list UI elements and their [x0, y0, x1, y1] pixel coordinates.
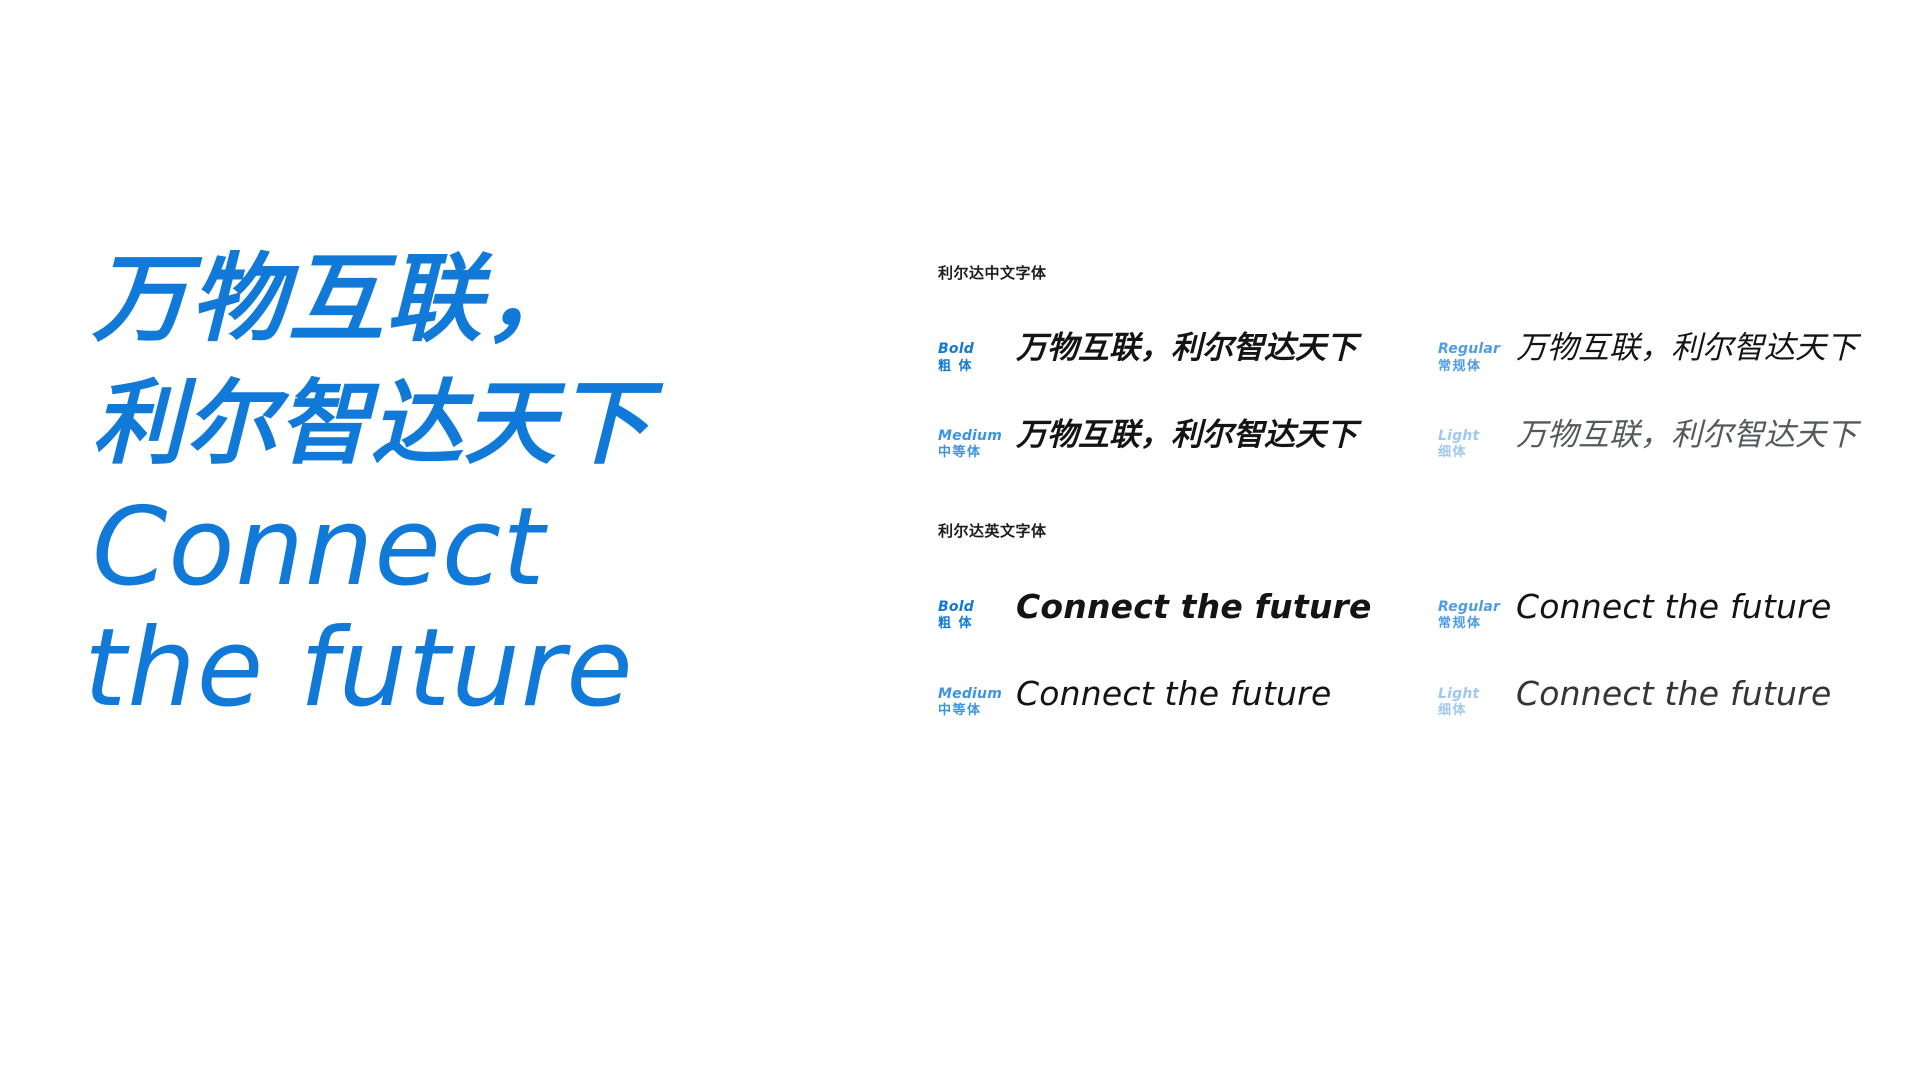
spec-row-cn-regular: Regular 常规体 万物互联，利尔智达天下: [1438, 331, 1920, 374]
weight-label-latin: Bold: [938, 599, 1016, 616]
section-chinese-typeface: 利尔达中文字体 Bold 粗 体 万物互联，利尔智达天下 Regular 常规体…: [938, 262, 1838, 461]
weight-label-latin: Light: [1438, 686, 1516, 703]
sample-text-en-regular: Connect the future: [1516, 589, 1920, 625]
weight-label-chinese: 中等体: [938, 703, 1016, 718]
hero-english-line-2: the future: [84, 609, 852, 730]
sample-text-en-bold: Connect the future: [1016, 589, 1438, 625]
sample-text-cn-light: 万物互联，利尔智达天下: [1516, 418, 1920, 454]
weight-label-en-light: Light 细体: [1438, 676, 1516, 719]
weight-label-cn-regular: Regular 常规体: [1438, 331, 1516, 374]
sample-text-en-medium: Connect the future: [1016, 676, 1438, 712]
hero-chinese-line-2: 利尔智达天下: [92, 363, 852, 484]
section-english-typeface: 利尔达英文字体 Bold 粗 体 Connect the future Regu…: [938, 520, 1838, 719]
weight-label-latin: Regular: [1438, 341, 1516, 358]
weight-label-en-bold: Bold 粗 体: [938, 589, 1016, 632]
weight-label-cn-bold: Bold 粗 体: [938, 331, 1016, 374]
spec-row-en-light: Light 细体 Connect the future: [1438, 676, 1920, 719]
spec-row-en-medium: Medium 中等体 Connect the future: [938, 676, 1438, 719]
section-title-english: 利尔达英文字体: [938, 520, 1838, 541]
sample-text-cn-medium: 万物互联，利尔智达天下: [1016, 418, 1438, 454]
weight-label-chinese: 常规体: [1438, 616, 1516, 631]
spec-row-cn-light: Light 细体 万物互联，利尔智达天下: [1438, 418, 1920, 461]
spec-row-cn-bold: Bold 粗 体 万物互联，利尔智达天下: [938, 331, 1438, 374]
weight-label-latin: Regular: [1438, 599, 1516, 616]
weight-label-cn-light: Light 细体: [1438, 418, 1516, 461]
weight-label-en-medium: Medium 中等体: [938, 676, 1016, 719]
sample-text-en-light: Connect the future: [1516, 676, 1920, 712]
english-weight-grid: Bold 粗 体 Connect the future Regular 常规体 …: [938, 589, 1838, 719]
weight-label-chinese: 细体: [1438, 445, 1516, 460]
weight-label-en-regular: Regular 常规体: [1438, 589, 1516, 632]
hero-lockup: 万物互联， 利尔智达天下 Connect the future: [92, 236, 852, 730]
weight-label-latin: Light: [1438, 428, 1516, 445]
hero-english-lockup: Connect the future: [92, 488, 852, 730]
weight-label-latin: Medium: [938, 686, 1016, 703]
weight-label-cn-medium: Medium 中等体: [938, 418, 1016, 461]
weight-specimen-panel: 利尔达中文字体 Bold 粗 体 万物互联，利尔智达天下 Regular 常规体…: [938, 262, 1838, 718]
chinese-weight-grid: Bold 粗 体 万物互联，利尔智达天下 Regular 常规体 万物互联，利尔…: [938, 331, 1838, 461]
sample-text-cn-regular: 万物互联，利尔智达天下: [1516, 331, 1920, 367]
spec-row-cn-medium: Medium 中等体 万物互联，利尔智达天下: [938, 418, 1438, 461]
sample-text-cn-bold: 万物互联，利尔智达天下: [1016, 331, 1438, 367]
hero-chinese-line-1: 万物互联，: [92, 236, 852, 363]
weight-label-chinese: 粗 体: [938, 359, 1016, 374]
spec-row-en-regular: Regular 常规体 Connect the future: [1438, 589, 1920, 632]
weight-label-chinese: 细体: [1438, 703, 1516, 718]
typography-specimen-page: 万物互联， 利尔智达天下 Connect the future 利尔达中文字体 …: [0, 0, 1920, 1080]
spec-row-en-bold: Bold 粗 体 Connect the future: [938, 589, 1438, 632]
weight-label-chinese: 中等体: [938, 445, 1016, 460]
weight-label-latin: Bold: [938, 341, 1016, 358]
weight-label-chinese: 常规体: [1438, 359, 1516, 374]
weight-label-chinese: 粗 体: [938, 616, 1016, 631]
section-title-chinese: 利尔达中文字体: [938, 262, 1838, 283]
hero-english-line-1: Connect: [92, 488, 852, 609]
weight-label-latin: Medium: [938, 428, 1016, 445]
